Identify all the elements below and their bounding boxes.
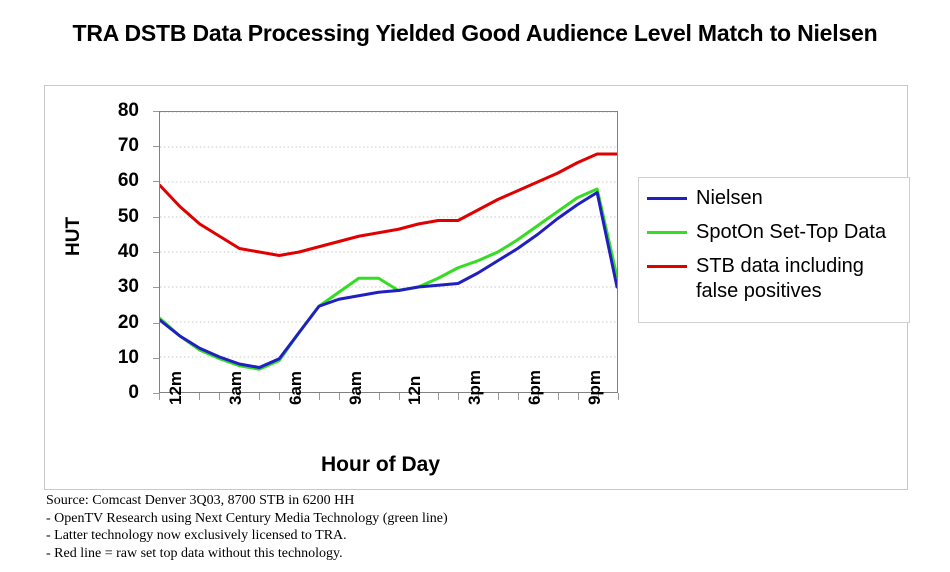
legend-item-stb[interactable]: STB data including false positives	[647, 254, 903, 304]
x-tick-label: 9pm	[585, 370, 605, 405]
x-tick-label: 12n	[405, 376, 425, 405]
y-tick-label: 60	[93, 170, 139, 192]
x-tick-label: 9am	[346, 371, 366, 405]
legend-label: SpotOn Set-Top Data	[696, 220, 886, 245]
y-tick-label: 20	[93, 312, 139, 334]
legend-swatch-spoton	[647, 231, 687, 234]
footnote-opentv: - OpenTV Research using Next Century Med…	[46, 510, 646, 528]
x-axis-tick	[319, 393, 320, 400]
x-axis-tick	[518, 393, 519, 400]
footnote-license: - Latter technology now exclusively lice…	[46, 527, 646, 545]
x-axis-tick	[279, 393, 280, 400]
chart-legend: Nielsen SpotOn Set-Top Data STB data inc…	[638, 177, 910, 323]
x-axis-tick	[339, 393, 340, 400]
x-axis-title: Hour of Day	[321, 453, 440, 477]
series-line-spoton-set-top-data	[160, 189, 617, 369]
legend-item-spoton[interactable]: SpotOn Set-Top Data	[647, 220, 903, 245]
x-axis-tick	[438, 393, 439, 400]
y-tick-label: 80	[93, 100, 139, 122]
footnotes: Source: Comcast Denver 3Q03, 8700 STB in…	[46, 492, 646, 562]
x-axis-tick	[498, 393, 499, 400]
y-axis-title: HUT	[63, 217, 85, 256]
legend-label: Nielsen	[696, 186, 763, 211]
series-canvas	[160, 112, 617, 392]
y-tick-label: 70	[93, 135, 139, 157]
x-tick-label: 12m	[166, 371, 186, 405]
x-axis-tick	[578, 393, 579, 400]
slide-canvas: TRA DSTB Data Processing Yielded Good Au…	[0, 0, 950, 572]
y-tick-label: 40	[93, 241, 139, 263]
series-line-stb-data-including-false-positives	[160, 154, 617, 256]
x-axis-tick	[618, 393, 619, 400]
page-title: TRA DSTB Data Processing Yielded Good Au…	[0, 20, 950, 47]
x-tick-label: 6pm	[525, 370, 545, 405]
gridlines	[160, 112, 617, 357]
x-axis-tick	[199, 393, 200, 400]
x-axis-tick	[219, 393, 220, 400]
legend-swatch-nielsen	[647, 197, 687, 200]
y-tick-label: 0	[93, 382, 139, 404]
y-tick-label: 10	[93, 347, 139, 369]
x-axis-tick	[458, 393, 459, 400]
x-axis-tick	[558, 393, 559, 400]
x-tick-label: 3am	[226, 371, 246, 405]
x-tick-label: 3pm	[465, 370, 485, 405]
legend-item-nielsen[interactable]: Nielsen	[647, 186, 903, 211]
y-tick-label: 30	[93, 276, 139, 298]
data-series-group	[160, 154, 617, 369]
footnote-source: Source: Comcast Denver 3Q03, 8700 STB in…	[46, 492, 646, 510]
plot-area	[159, 111, 618, 393]
y-tick-label: 50	[93, 206, 139, 228]
legend-swatch-stb	[647, 265, 687, 268]
chart-container: 80 70 60 50 40 30 20 10 0 HUT 12m3am6a	[44, 85, 908, 490]
legend-label: STB data including false positives	[696, 254, 903, 304]
x-axis-tick	[399, 393, 400, 400]
x-tick-label: 6am	[286, 371, 306, 405]
x-axis-tick	[259, 393, 260, 400]
x-axis-tick	[379, 393, 380, 400]
footnote-redline: - Red line = raw set top data without th…	[46, 545, 646, 563]
x-axis-tick	[159, 393, 160, 400]
